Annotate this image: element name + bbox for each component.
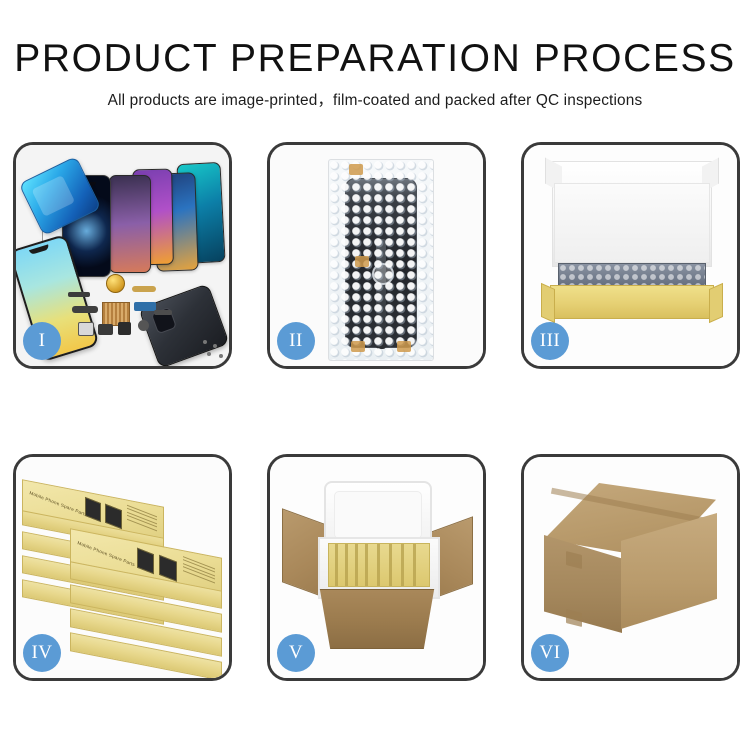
header: PRODUCT PREPARATION PROCESS All products…	[0, 36, 750, 112]
step-badge-6: VI	[531, 634, 569, 672]
camera-module-icon	[98, 324, 113, 335]
foam-sheet-icon	[554, 183, 710, 263]
flex-cable-icon	[72, 306, 98, 313]
phone-gradient-icon	[109, 175, 151, 273]
yellow-box-base-icon	[550, 285, 714, 319]
box-phone-thumbnail	[137, 548, 154, 575]
process-step-panel-2: II	[267, 142, 486, 369]
tape-strip-icon	[349, 164, 363, 175]
box-spec-lines	[127, 505, 157, 534]
blue-flex-icon	[134, 302, 156, 311]
screws-group	[201, 338, 227, 360]
step-badge-4: IV	[23, 634, 61, 672]
product-preparation-infographic: PRODUCT PREPARATION PROCESS All products…	[0, 0, 750, 750]
process-step-panel-6: VI	[521, 454, 740, 681]
process-step-grid: I II	[13, 142, 739, 681]
step-badge-1: I	[23, 322, 61, 360]
screw-icon	[207, 352, 211, 356]
process-step-panel-3: III	[521, 142, 740, 369]
page-subtitle: All products are image-printed，film-coat…	[0, 90, 750, 112]
spare-parts-group	[68, 276, 188, 350]
screw-icon	[203, 340, 207, 344]
screw-icon	[213, 344, 217, 348]
box-phone-thumbnail	[105, 504, 122, 530]
phone-fan-group	[95, 161, 225, 281]
tape-strip-icon	[397, 341, 411, 352]
bubble-wrap-bag-icon	[328, 159, 434, 361]
gold-flex-icon	[132, 286, 156, 292]
tape-strip-icon	[351, 341, 365, 352]
vibrator-icon	[118, 322, 131, 335]
step-badge-2: II	[277, 322, 315, 360]
box-spec-lines	[183, 556, 215, 585]
page-title: PRODUCT PREPARATION PROCESS	[0, 36, 750, 82]
bubble-texture	[329, 160, 433, 360]
step-badge-3: III	[531, 322, 569, 360]
box-product-label: Mobile Phone Spare Parts	[77, 540, 135, 567]
process-step-panel-5: V	[267, 454, 486, 681]
process-step-panel-1: I	[13, 142, 232, 369]
box-phone-thumbnail	[159, 555, 177, 582]
tape-strip-icon	[355, 256, 369, 267]
sim-tray-icon	[78, 322, 94, 336]
connector-strip-icon	[68, 292, 90, 297]
box-product-label: Mobile Phone Spare Parts	[29, 490, 87, 517]
process-step-panel-4: Mobile Phone Spare Parts Mobile Phone Sp…	[13, 454, 232, 681]
antenna-strip-icon	[154, 310, 172, 315]
yellow-boxes-inside-icon	[328, 543, 430, 587]
screw-icon	[219, 354, 223, 358]
home-button-icon	[138, 320, 149, 331]
speaker-module-icon	[106, 274, 125, 293]
step-badge-5: V	[277, 634, 315, 672]
carton-body-icon	[312, 589, 442, 649]
box-phone-thumbnail	[85, 497, 101, 522]
